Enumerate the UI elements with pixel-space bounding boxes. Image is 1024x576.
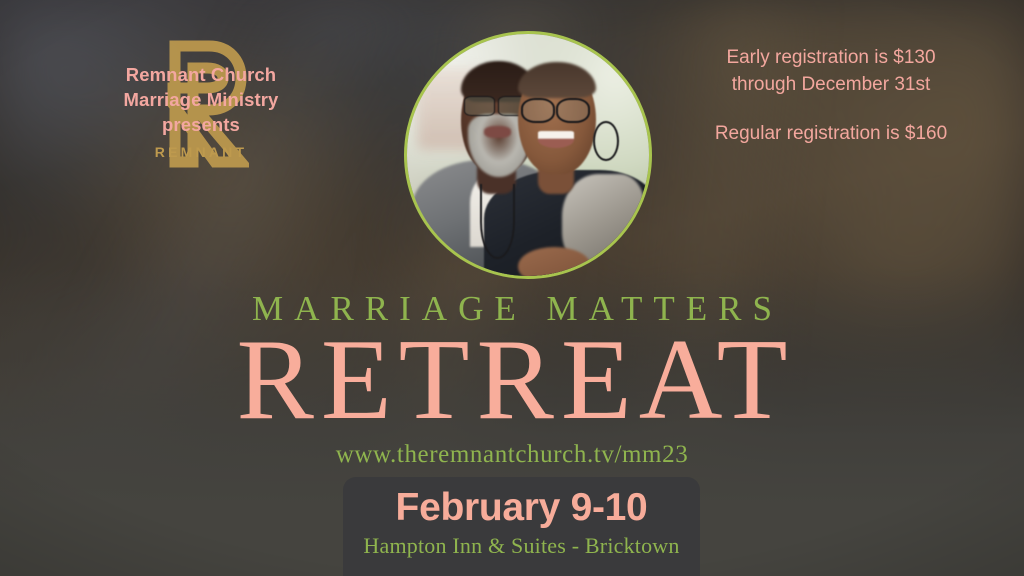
- brand-line-1: Remnant Church: [86, 62, 316, 87]
- couple-photo-inner: [407, 34, 649, 276]
- brand-line-3: presents: [86, 112, 316, 137]
- early-registration-line-2: through December 31st: [666, 71, 996, 98]
- woman-arm: [518, 247, 591, 279]
- man-mouth: [484, 126, 511, 138]
- woman-glasses-right: [556, 98, 590, 123]
- couple-photo: [404, 31, 652, 279]
- brand-line-2: Marriage Ministry: [86, 87, 316, 112]
- brand-wordmark: REMNANT: [86, 144, 316, 160]
- woman-smile: [538, 131, 574, 148]
- woman-glasses-left: [521, 98, 555, 123]
- event-title: RETREAT: [0, 322, 1024, 438]
- event-venue: Hampton Inn & Suites - Bricktown: [343, 533, 700, 559]
- website-url[interactable]: www.theremnantchurch.tv/mm23: [0, 441, 1024, 469]
- event-dates: February 9-10: [343, 486, 700, 530]
- man-glasses-left: [464, 96, 495, 116]
- registration-spacer: [666, 98, 996, 120]
- event-details-panel: February 9-10 Hampton Inn & Suites - Bri…: [343, 477, 700, 576]
- early-registration-line-1: Early registration is $130: [666, 44, 996, 71]
- marriage-matters-retreat-poster: Remnant Church Marriage Ministry present…: [0, 0, 1024, 576]
- registration-info: Early registration is $130 through Decem…: [666, 44, 996, 147]
- man-necklace: [480, 184, 515, 259]
- brand-block: Remnant Church Marriage Ministry present…: [86, 28, 316, 173]
- regular-registration: Regular registration is $160: [666, 120, 996, 147]
- brand-name-lines: Remnant Church Marriage Ministry present…: [86, 62, 316, 137]
